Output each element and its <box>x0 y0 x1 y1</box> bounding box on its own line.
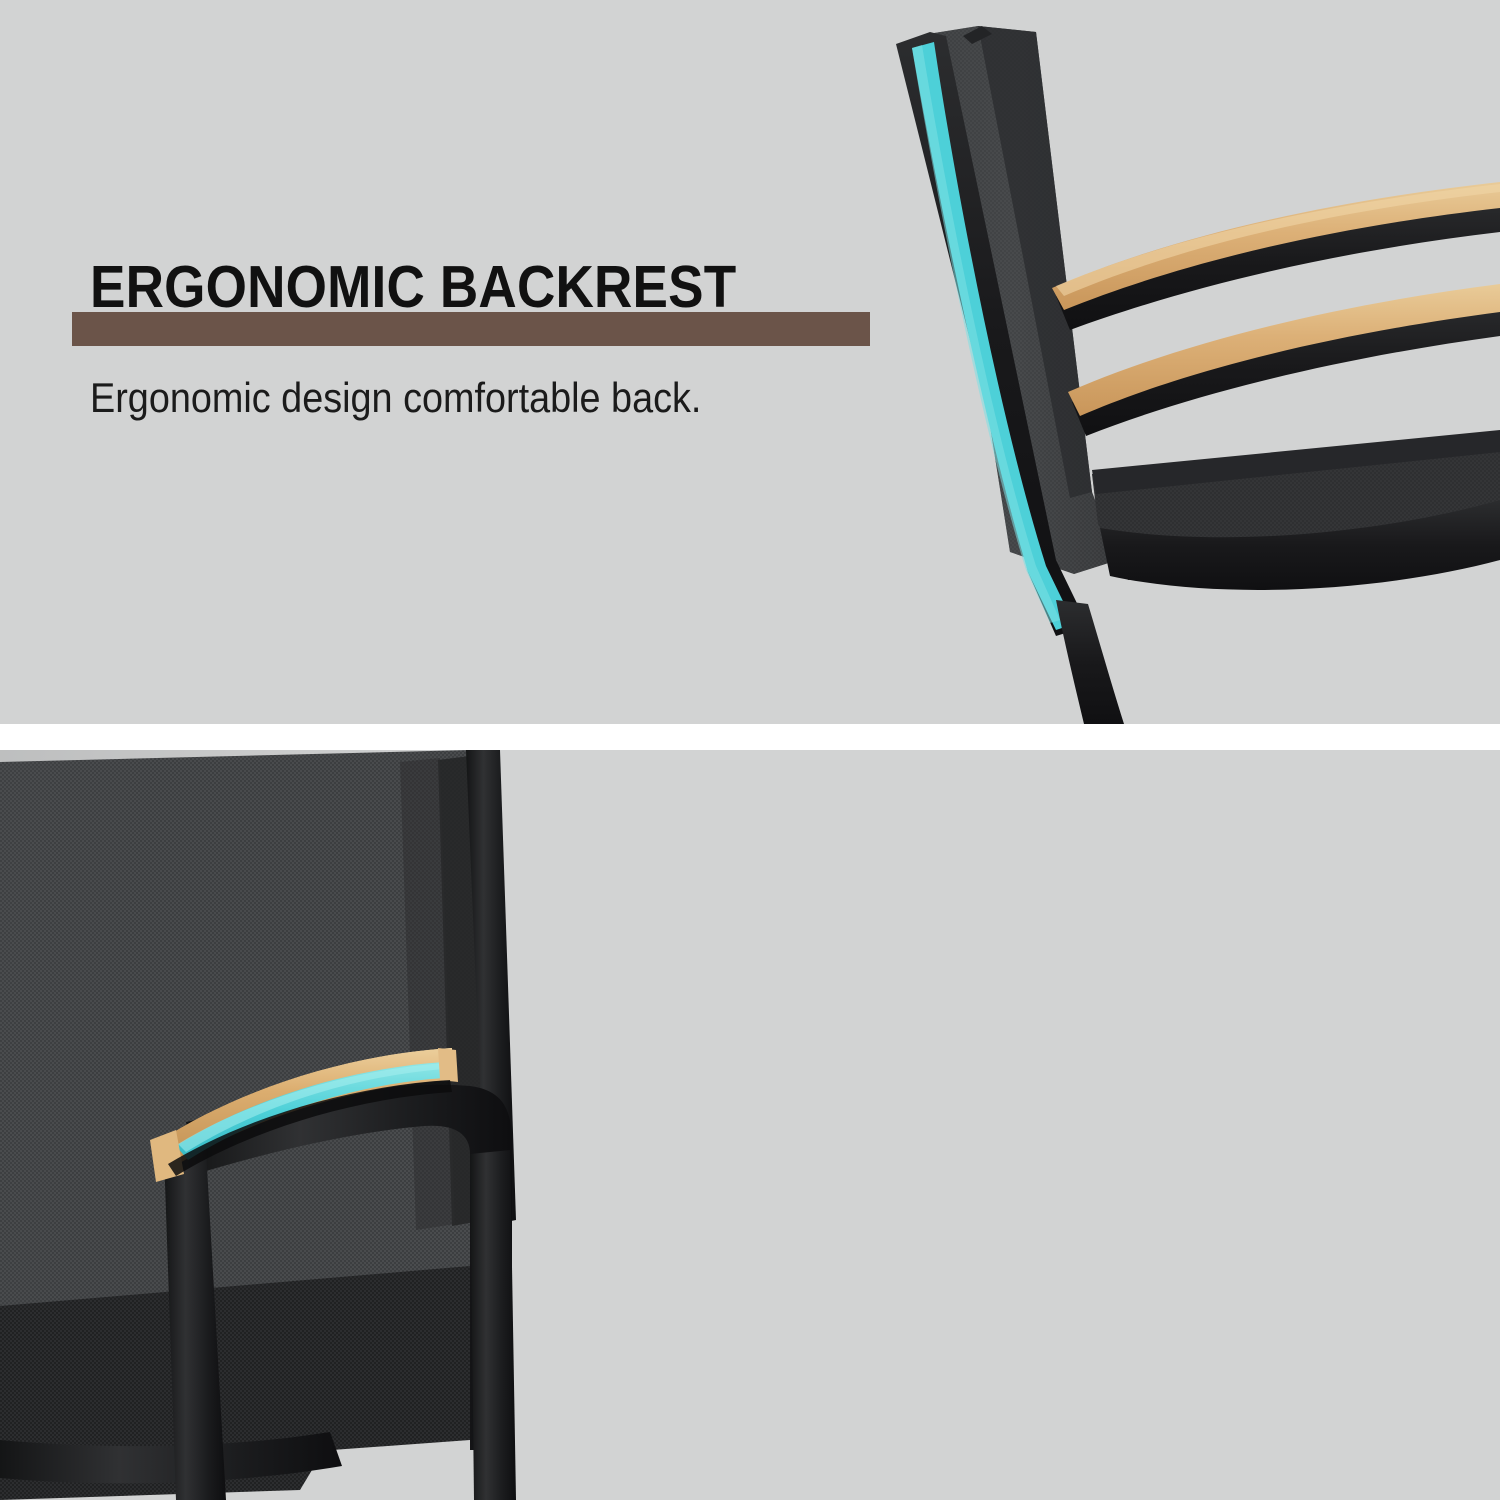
panel-backrest: ERGONOMIC BACKREST Ergonomic design comf… <box>0 0 1500 724</box>
heading-wrap-backrest: ERGONOMIC BACKREST <box>90 258 920 317</box>
chair-side-view-svg <box>860 0 1500 724</box>
panel-divider <box>0 724 1500 750</box>
rear-support-bar <box>470 1150 516 1500</box>
armrest-wood-endcap-right <box>438 1048 458 1082</box>
subtitle-backrest: Ergonomic design comfortable back. <box>90 372 837 425</box>
heading-backrest: ERGONOMIC BACKREST <box>90 258 837 317</box>
text-block-backrest: ERGONOMIC BACKREST Ergonomic design comf… <box>90 258 920 425</box>
infographic-canvas: ERGONOMIC BACKREST Ergonomic design comf… <box>0 0 1500 1500</box>
panel-armrests: ERGONOMIC ARMRESTS The curved line that … <box>0 750 1500 1500</box>
chair-closeup-svg <box>0 750 620 1500</box>
chair-side-view-image <box>860 0 1500 724</box>
rear-leg <box>1056 600 1124 724</box>
chair-closeup-image <box>0 750 620 1500</box>
